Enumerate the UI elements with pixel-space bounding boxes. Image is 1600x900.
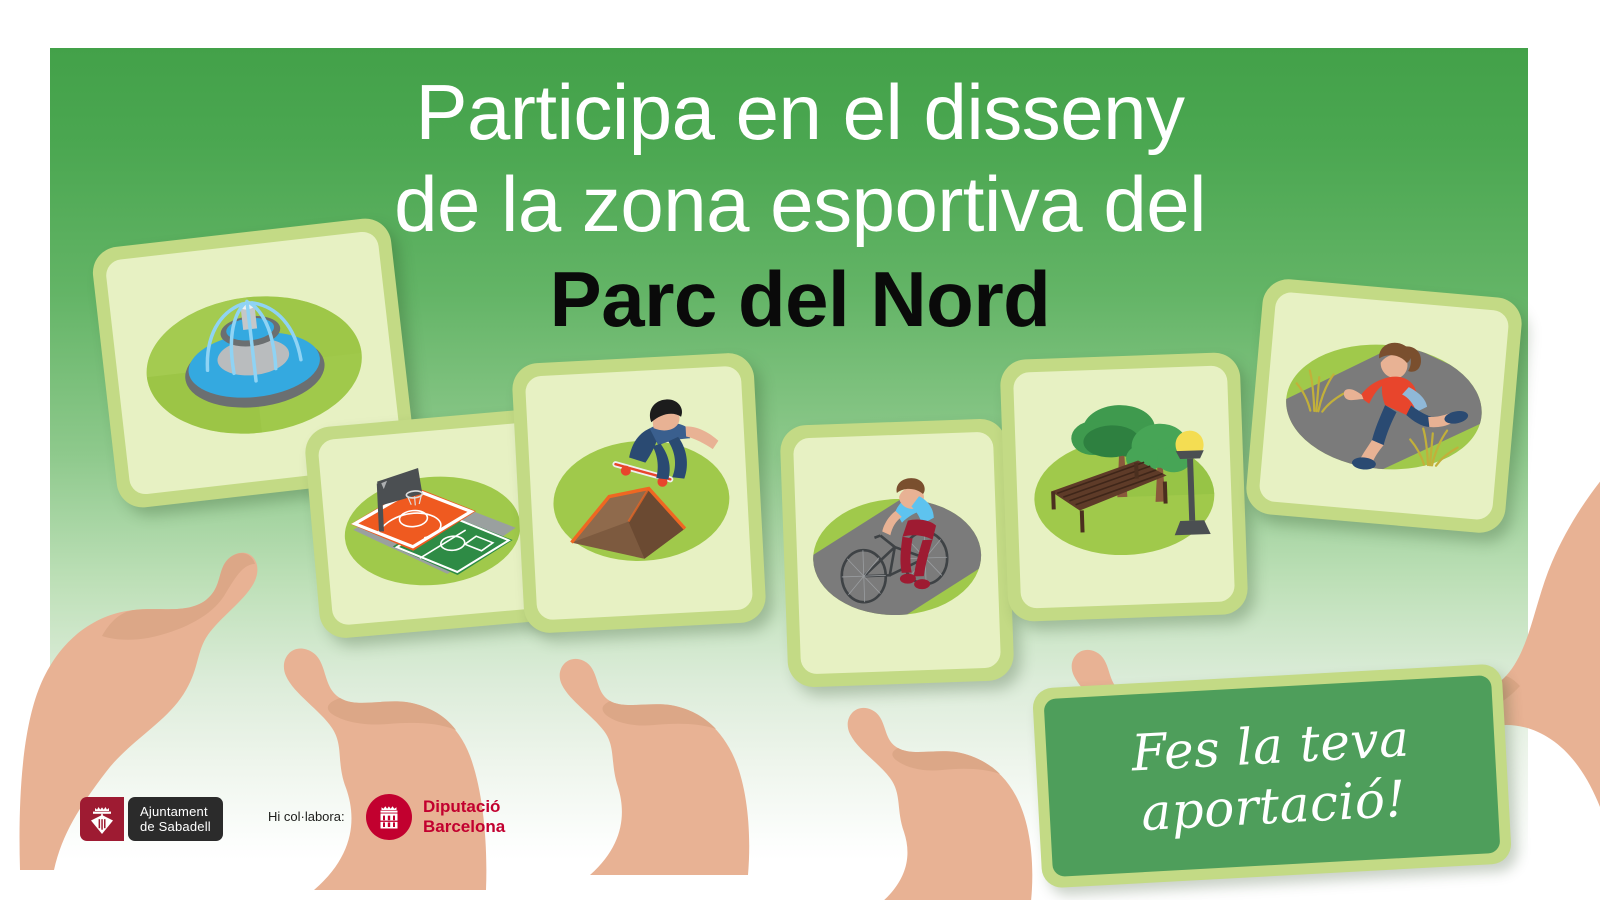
card-label-list: Font ornamental Pistes esportives Skatep… (0, 0, 1, 1)
logo-diputacio-barcelona[interactable]: Diputació Barcelona (366, 794, 505, 840)
sabadell-crest-icon (80, 797, 124, 841)
sabadell-name-box: Ajuntament de Sabadell (128, 797, 223, 841)
collaborator-label: Hi col·labora: (268, 809, 345, 824)
sabadell-line-2: de Sabadell (140, 819, 211, 834)
diba-name-box: Diputació Barcelona (423, 797, 505, 837)
diba-crest-icon (366, 794, 412, 840)
diba-line-1: Diputació (423, 797, 505, 817)
footer-logos: Ajuntament de Sabadell Hi col·labora: (0, 786, 1600, 856)
card-label-fountain: Font ornamental (0, 0, 1, 1)
logo-ajuntament-de-sabadell[interactable]: Ajuntament de Sabadell (80, 797, 223, 841)
diba-line-2: Barcelona (423, 817, 505, 837)
sabadell-line-1: Ajuntament (140, 804, 211, 819)
poster-root: Participa en el disseny de la zona espor… (0, 0, 1600, 900)
